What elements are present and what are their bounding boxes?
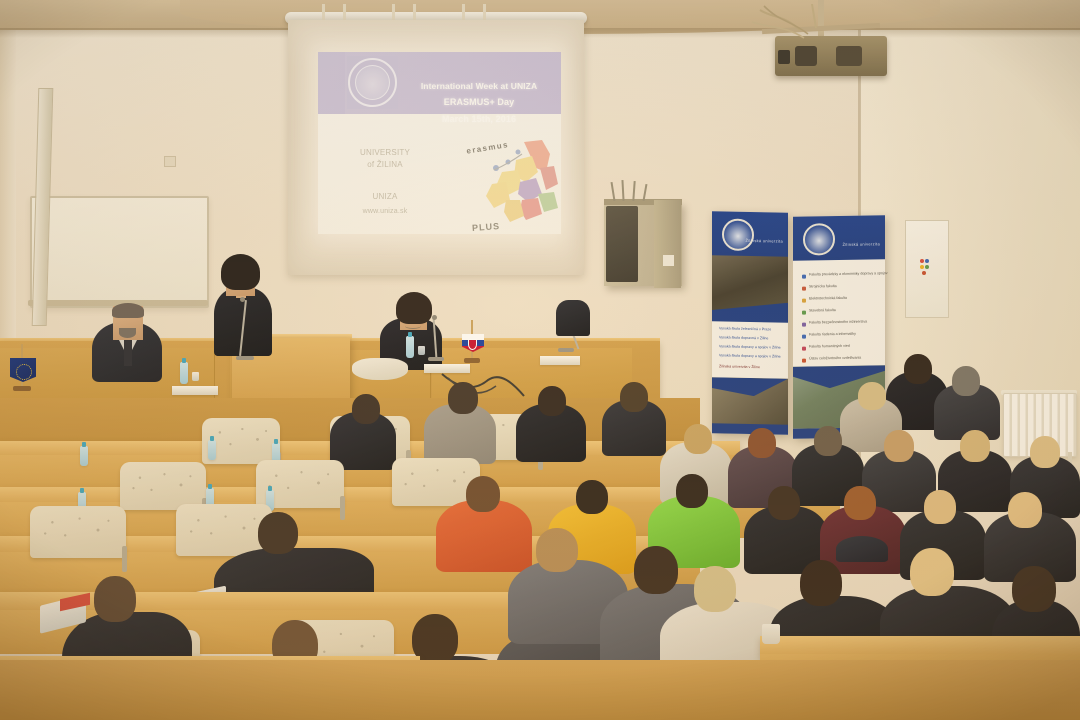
yellow-tshirt-person-head — [576, 480, 608, 514]
slide-heading-2: ERASMUS+ Day — [400, 98, 558, 107]
projector-cables — [742, 4, 852, 54]
floor — [0, 660, 1080, 720]
banner-brand: Žilinská univerzita — [843, 241, 881, 247]
audience-person-head — [536, 528, 578, 572]
striped-shirt-person-head — [694, 566, 736, 612]
banner-header: Žilinská univerzita — [712, 211, 788, 257]
audience-person-head — [952, 366, 980, 396]
audience-person-head — [904, 354, 932, 384]
faculty-item: Stavebná fakulta — [809, 308, 836, 312]
banner-faculty-list: Fakulta prevádzky a ekonomiky dopravy a … — [793, 259, 885, 369]
water-bottle — [406, 336, 414, 358]
timeline-item-current: Žilinská univerzita v Žiline — [719, 364, 760, 369]
uniza-crest-icon — [722, 218, 754, 251]
auditorium-seat — [30, 506, 126, 558]
slide-heading-3: March 15th, 2016 — [400, 115, 558, 124]
wall-notice-panel — [905, 220, 949, 318]
audience-person-head — [924, 490, 956, 524]
uniza-crest-icon — [803, 223, 835, 256]
audience-person-head — [814, 426, 842, 456]
audience-person-head — [352, 394, 380, 424]
water-bottle — [80, 446, 88, 466]
audience-person-head — [748, 428, 776, 458]
av-cabinet-label — [663, 255, 674, 266]
drinking-glass — [418, 346, 425, 355]
wall-socket — [164, 156, 176, 167]
audience-person-head — [768, 486, 800, 520]
seated-woman-hair — [396, 292, 432, 324]
faculty-item: Fakulta humanitných vied — [809, 344, 850, 349]
av-cabinet-side-panel — [654, 200, 681, 288]
white-bag — [352, 358, 408, 380]
rollup-banner-left: Žilinská univerzita Vysoká škola železni… — [712, 211, 788, 435]
name-card — [540, 356, 580, 365]
microphone-base — [236, 356, 254, 360]
audience-person-head — [1030, 436, 1060, 468]
standing-woman-hair — [221, 254, 260, 290]
drinking-glass — [192, 372, 199, 381]
microphone-head — [432, 315, 437, 320]
orange-tshirt-person-head — [466, 476, 500, 512]
lecture-hall-photo: International Week at UNIZA ERASMUS+ Day… — [0, 0, 1080, 720]
eu-flag-base — [13, 386, 31, 391]
audience-person-head — [620, 382, 648, 412]
audience-person-head — [960, 430, 990, 462]
seated-man-hair — [112, 303, 144, 318]
audience-person-head — [844, 486, 876, 520]
banner-header: Žilinská univerzita — [793, 215, 885, 261]
slide-website: www.uniza.sk — [330, 208, 440, 215]
erasmus-plus-wordmark: PLUS — [472, 221, 501, 233]
seat-leg — [122, 546, 127, 572]
slide-university-line-1: UNIVERSITY — [330, 148, 440, 157]
seated-woman-necklace — [405, 323, 421, 329]
slide-heading-1: International Week at UNIZA — [400, 82, 558, 91]
microphone-head — [240, 297, 245, 302]
faculty-item: Strojnícka fakulta — [809, 284, 837, 288]
faculty-item: Elektrotechnická fakulta — [809, 296, 847, 301]
auditorium-seat — [120, 462, 206, 510]
audience-person-head — [884, 430, 914, 462]
water-bottle — [208, 440, 216, 460]
seat-leg — [340, 496, 345, 520]
timeline-item: Vysoká škola dopravy a spojov v Žiline — [719, 344, 781, 349]
faculty-item: Fakulta riadenia a informatiky — [809, 332, 856, 337]
blonde-person-head — [910, 548, 954, 596]
slovak-coat-of-arms-icon — [468, 339, 477, 350]
audience-person-head — [634, 546, 678, 594]
slide-university-line-2: of ŽILINA — [330, 160, 440, 169]
banner-photo-lecture-hall — [712, 255, 788, 325]
empty-chair-back — [556, 300, 590, 336]
audience-person-head — [1012, 566, 1056, 612]
university-seal-icon — [347, 56, 398, 109]
audience-person-head — [858, 382, 886, 410]
slovak-flag-base — [464, 358, 480, 363]
audience-person-head — [800, 560, 842, 606]
timeline-item: Vysoká škola dopravná v Žiline — [719, 335, 768, 340]
banner-brand: Žilinská univerzita — [746, 238, 784, 244]
black-cap-icon — [836, 536, 888, 562]
name-card — [172, 386, 218, 395]
whiteboard — [30, 196, 209, 308]
faculty-item: Ústav celoživotného vzdelávania — [809, 356, 861, 361]
banner-photo-historic — [712, 377, 788, 427]
green-hoodie-person-head — [676, 474, 708, 508]
banner-timeline-block: Vysoká škola železničná v Praze Vysoká š… — [712, 321, 788, 381]
suited-man-head — [258, 512, 298, 554]
eu-stars-icon — [16, 364, 32, 380]
seated-man-beard — [119, 328, 136, 338]
timeline-item: Vysoká škola dopravy a spojov v Žiline — [719, 353, 781, 358]
seated-man-tie — [124, 340, 132, 366]
audience-person-head — [1008, 492, 1042, 528]
coffee-cup — [762, 624, 780, 644]
faculty-item: Fakulta prevádzky a ekonomiky dopravy a … — [809, 271, 888, 276]
audience-person-head — [448, 382, 478, 414]
audience-person-head — [684, 424, 712, 454]
slide-acronym: UNIZA — [330, 192, 440, 201]
microphone-base — [428, 357, 444, 361]
audience-person-head — [94, 576, 136, 622]
av-cabinet-glass-door[interactable] — [606, 206, 638, 282]
timeline-item: Vysoká škola železničná v Praze — [719, 326, 771, 331]
microphone-base — [558, 348, 574, 352]
water-bottle — [180, 362, 188, 384]
audience-person-head — [538, 386, 566, 416]
faculty-item: Fakulta bezpečnostného inžinierstva — [809, 320, 867, 325]
